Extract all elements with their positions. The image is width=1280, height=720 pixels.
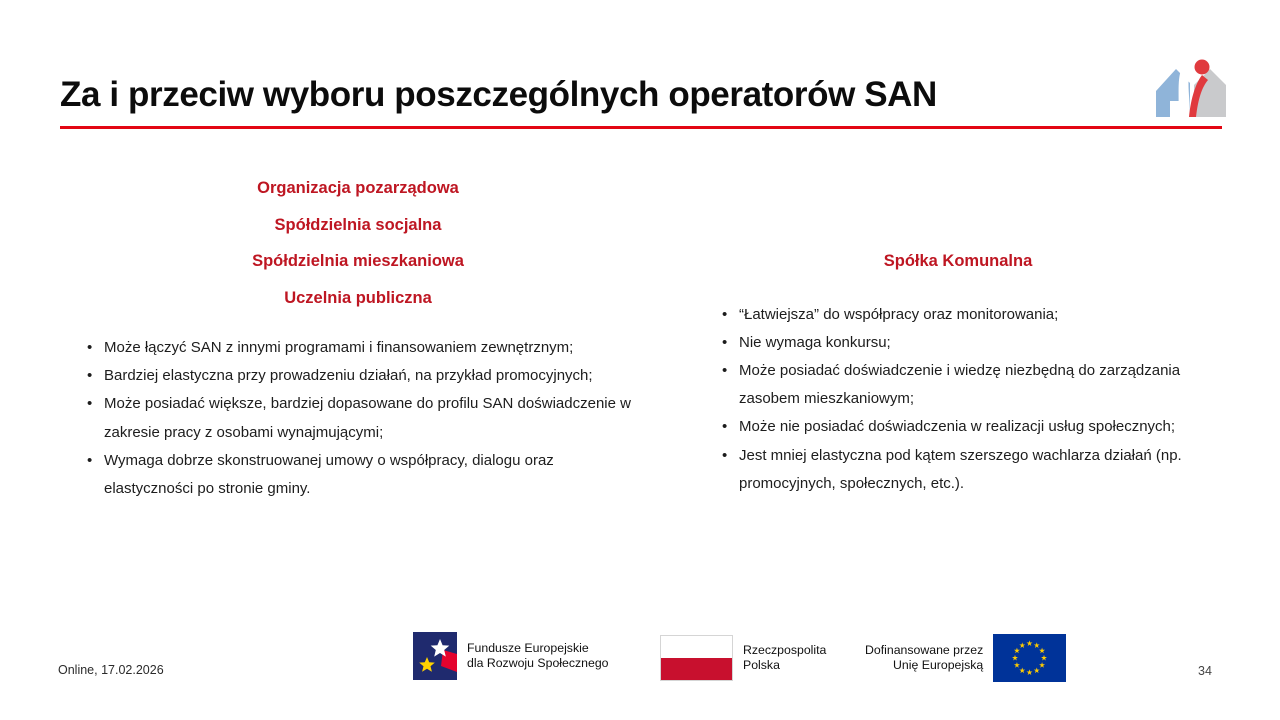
list-item: “Łatwiejsza” do współpracy oraz monitoro… [713, 301, 1203, 329]
poland-flag-icon [660, 635, 733, 681]
footer-logo-bar: Fundusze Europejskie dla Rozwoju Społecz… [413, 631, 1103, 685]
fe-line-2: dla Rozwoju Społecznego [467, 656, 609, 671]
list-item: Może posiadać doświadczenie i wiedzę nie… [713, 357, 1203, 413]
eu-line-1: Dofinansowane przez [865, 643, 983, 658]
list-item: Może nie posiadać doświadczenia w realiz… [713, 413, 1203, 441]
left-heading-3: Uczelnia publiczna [78, 280, 638, 317]
left-heading-0: Organizacja pozarządowa [78, 170, 638, 207]
logo-text-block: Fundusze Europejskie dla Rozwoju Społecz… [467, 641, 609, 672]
right-bullet-list: “Łatwiejsza” do współpracy oraz monitoro… [713, 301, 1203, 498]
left-column: Organizacja pozarządowa Spółdzielnia soc… [78, 170, 638, 503]
logo-text-block: Rzeczpospolita Polska [743, 643, 826, 674]
left-column-headings: Organizacja pozarządowa Spółdzielnia soc… [78, 170, 638, 316]
slide-canvas: Za i przeciw wyboru poszczególnych opera… [0, 0, 1280, 720]
logo-dofinansowane-ue: Dofinansowane przez Unię Europejską [865, 634, 1066, 682]
left-heading-1: Spółdzielnia socjalna [78, 207, 638, 244]
list-item: Jest mniej elastyczna pod kątem szerszeg… [713, 442, 1203, 498]
right-heading-0: Spółka Komunalna [713, 243, 1203, 280]
list-item: Bardziej elastyczna przy prowadzeniu dzi… [78, 362, 638, 390]
left-heading-2: Spółdzielnia mieszkaniowa [78, 243, 638, 280]
house-people-logo [1150, 55, 1232, 125]
right-column: Spółka Komunalna “Łatwiejsza” do współpr… [713, 170, 1203, 498]
pl-line-1: Rzeczpospolita [743, 643, 826, 658]
left-bullet-list: Może łączyć SAN z innymi programami i fi… [78, 334, 638, 503]
flag-band-red [661, 658, 732, 680]
right-column-headings: Spółka Komunalna [713, 170, 1203, 280]
eu-line-2: Unię Europejską [865, 658, 983, 673]
eu-funds-emblem-icon [413, 632, 457, 680]
page-title: Za i przeciw wyboru poszczególnych opera… [60, 76, 937, 115]
logo-rzeczpospolita-polska: Rzeczpospolita Polska [660, 635, 826, 681]
fe-line-1: Fundusze Europejskie [467, 641, 609, 656]
pl-line-2: Polska [743, 658, 826, 673]
page-number: 34 [1198, 664, 1238, 678]
eu-flag-icon [993, 634, 1066, 682]
title-underline-rule [60, 126, 1222, 129]
logo-fundusze-europejskie: Fundusze Europejskie dla Rozwoju Społecz… [413, 632, 609, 680]
title-area: Za i przeciw wyboru poszczególnych opera… [60, 64, 1150, 126]
list-item: Może posiadać większe, bardziej dopasowa… [78, 390, 638, 446]
list-item: Wymaga dobrze skonstruowanej umowy o wsp… [78, 447, 638, 503]
logo-text-block: Dofinansowane przez Unię Europejską [865, 643, 983, 674]
footer-date: Online, 17.02.2026 [58, 663, 164, 677]
list-item: Może łączyć SAN z innymi programami i fi… [78, 334, 638, 362]
flag-band-white [661, 636, 732, 658]
list-item: Nie wymaga konkursu; [713, 329, 1203, 357]
